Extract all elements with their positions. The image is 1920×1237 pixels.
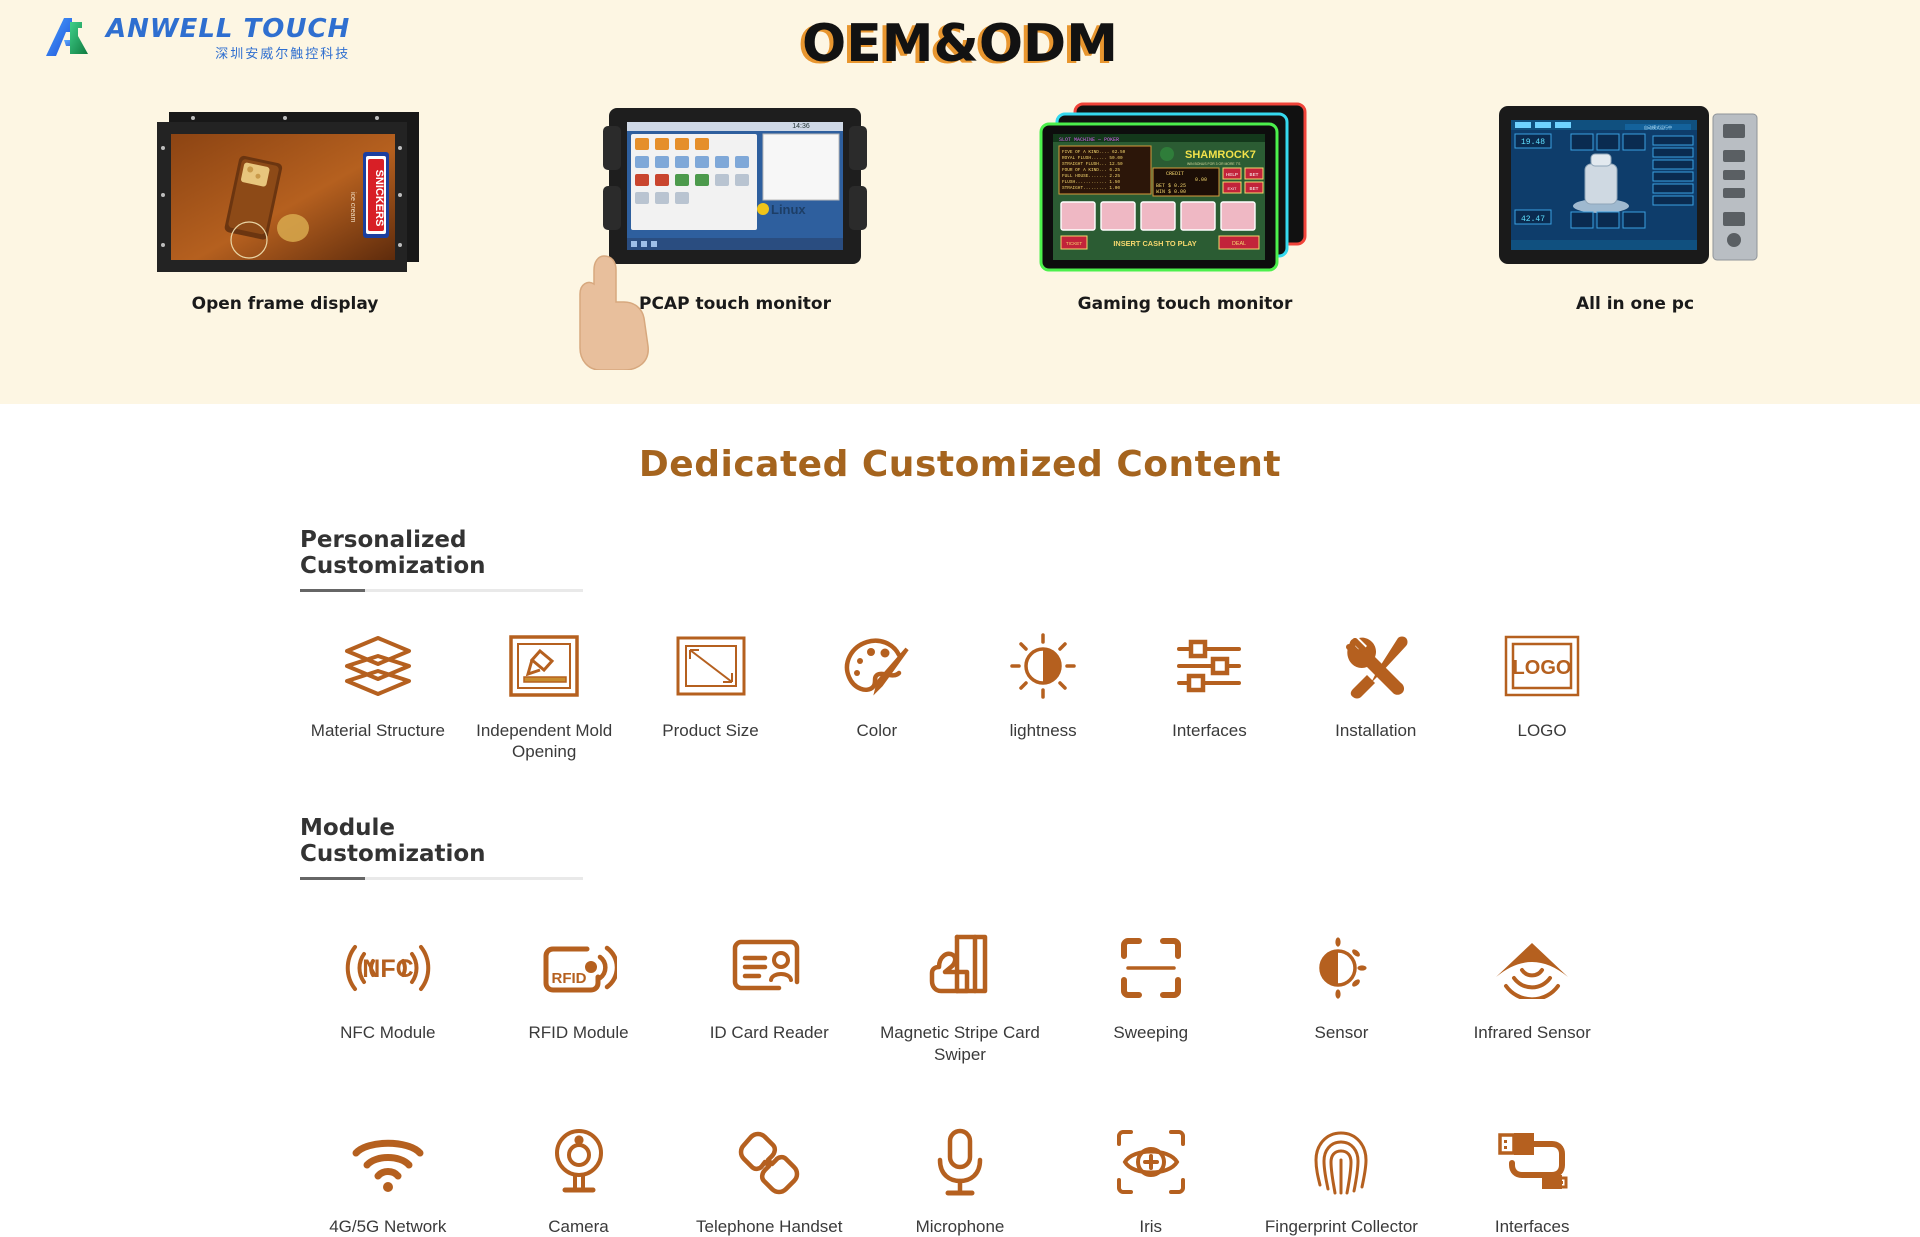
svg-text:42.47: 42.47 [1521,215,1545,224]
feature-logo[interactable]: LOGO LOGO [1464,628,1620,763]
module-interfaces[interactable]: Interfaces [1444,1124,1620,1237]
feature-installation[interactable]: Installation [1298,628,1454,763]
palette-icon [841,628,913,704]
product-label: All in one pc [1470,294,1800,314]
section-personalized-customization: Personalized Customization Material Stru… [0,527,1920,763]
section-header: Module Customization [300,815,583,880]
product-card-pcap[interactable]: 14:36 Linux PCAP touch monitor [570,100,900,314]
open-frame-display-image: SNICKERS ice cream [145,100,425,280]
module-rfid[interactable]: RFID RFID Module [491,930,667,1066]
module-id-card-reader[interactable]: ID Card Reader [681,930,857,1066]
feature-label: ID Card Reader [710,1022,829,1043]
section-heading: Module Customization [300,815,583,867]
wifi-icon [348,1124,428,1200]
svg-text:TICKET: TICKET [1066,241,1083,246]
feature-label: Camera [548,1216,608,1237]
module-infrared-sensor[interactable]: Infrared Sensor [1444,930,1620,1066]
svg-text:DEAL: DEAL [1232,241,1246,247]
section-heading: Personalized Customization [300,527,583,579]
brightness-sun-icon [1009,628,1077,704]
feature-label: Independent Mold Opening [466,720,622,763]
svg-text:SNICKERS: SNICKERS [373,170,385,227]
svg-text:BET: BET [1250,186,1259,191]
svg-text:WIN BONUS FOR 3 OR MORE 7'S: WIN BONUS FOR 3 OR MORE 7'S [1187,162,1241,166]
svg-text:SHAMROCK7: SHAMROCK7 [1185,149,1256,161]
feature-color[interactable]: Color [799,628,955,763]
module-fingerprint-collector[interactable]: Fingerprint Collector [1254,1124,1430,1237]
usb-cable-icon [1494,1124,1570,1200]
module-4g-5g-network[interactable]: 4G/5G Network [300,1124,476,1237]
module-icon-grid-row1: NFC NFC Module RFID [300,930,1620,1066]
rfid-icon: RFID [541,930,617,1006]
feature-label: Material Structure [311,720,445,741]
mold-pencil-icon [508,628,580,704]
module-magnetic-stripe-card-swiper[interactable]: Magnetic Stripe Card Swiper [872,930,1048,1066]
screen-diagonal-icon [675,628,747,704]
feature-label: Telephone Handset [696,1216,843,1237]
feature-label: Interfaces [1172,720,1247,741]
rfid-inner-text: RFID [551,970,586,987]
svg-text:STRAIGHT FLUSH... 12.50: STRAIGHT FLUSH... 12.50 [1062,162,1123,167]
svg-text:ROYAL FLUSH...... 50.00: ROYAL FLUSH...... 50.00 [1062,156,1123,161]
page-title: OEM&ODM [0,14,1920,74]
feature-product-size[interactable]: Product Size [633,628,789,763]
main-section-title: Dedicated Customized Content [0,444,1920,485]
feature-material-structure[interactable]: Material Structure [300,628,456,763]
infrared-sensor-icon [1490,930,1574,1006]
feature-label: Installation [1335,720,1416,741]
svg-text:FULL HOUSE....... 2.25: FULL HOUSE....... 2.25 [1062,174,1120,179]
webcam-icon [547,1124,611,1200]
feature-label: Sensor [1315,1022,1369,1043]
feature-label: Color [857,720,898,741]
svg-text:WIN $ 0.00: WIN $ 0.00 [1156,189,1186,195]
feature-label: lightness [1010,720,1077,741]
top-banner: ANWELL TOUCH 深圳安威尔触控科技 OEM&ODM [0,0,1920,404]
svg-text:INSERT CASH TO PLAY: INSERT CASH TO PLAY [1113,239,1196,248]
scan-frame-icon [1119,930,1183,1006]
personalized-icon-grid: Material Structure Independent Mold Open… [300,628,1620,763]
nfc-icon: NFC [333,930,443,1006]
svg-text:BET: BET [1250,172,1259,177]
svg-text:0.00: 0.00 [1195,177,1207,183]
svg-text:FLUSH............ 1.50: FLUSH............ 1.50 [1062,180,1120,185]
product-gallery: SNICKERS ice cream Open frame display [0,100,1920,314]
product-card-aio[interactable]: 自动模式运行中 19.48 42.47 [1470,100,1800,314]
wrench-screwdriver-icon [1341,628,1411,704]
feature-label: Infrared Sensor [1474,1022,1591,1043]
svg-text:19.48: 19.48 [1521,138,1545,147]
feature-interfaces[interactable]: Interfaces [1132,628,1288,763]
layers-icon [341,628,415,704]
module-nfc[interactable]: NFC NFC Module [300,930,476,1066]
svg-text:FOUR OF A KIND... 6.25: FOUR OF A KIND... 6.25 [1062,168,1120,173]
light-sensor-icon [1308,930,1374,1006]
svg-text:ice cream: ice cream [349,192,356,223]
feature-label: Product Size [662,720,758,741]
svg-text:自动模式运行中: 自动模式运行中 [1644,124,1672,130]
nfc-inner-text: NFC [362,955,413,983]
module-camera[interactable]: Camera [491,1124,667,1237]
product-label: Open frame display [120,294,450,314]
card-swipe-icon [927,930,993,1006]
logo-inner-text: LOGO [1513,657,1572,679]
feature-label: Iris [1139,1216,1162,1237]
feature-label: Interfaces [1495,1216,1570,1237]
iris-scan-icon [1115,1124,1187,1200]
pointing-hand-icon [560,250,680,370]
id-card-icon [731,930,807,1006]
gaming-touch-monitor-image: SLOT MACHINE — POKER FIVE OF A KIND.... … [1035,100,1335,280]
module-telephone-handset[interactable]: Telephone Handset [681,1124,857,1237]
svg-text:CREDIT: CREDIT [1166,171,1184,177]
feature-lightness[interactable]: lightness [965,628,1121,763]
svg-text:STRAIGHT......... 1.00: STRAIGHT......... 1.00 [1062,186,1120,191]
svg-text:14:36: 14:36 [792,123,810,130]
product-card-open-frame[interactable]: SNICKERS ice cream Open frame display [120,100,450,314]
feature-independent-mold-opening[interactable]: Independent Mold Opening [466,628,622,763]
module-iris[interactable]: Iris [1063,1124,1239,1237]
section-underline [300,877,583,880]
module-sweeping[interactable]: Sweeping [1063,930,1239,1066]
svg-text:Linux: Linux [771,202,806,217]
feature-label: Fingerprint Collector [1265,1216,1418,1237]
module-sensor[interactable]: Sensor [1254,930,1430,1066]
feature-label: RFID Module [528,1022,628,1043]
svg-text:SLOT MACHINE — POKER: SLOT MACHINE — POKER [1059,137,1119,143]
all-in-one-pc-image: 自动模式运行中 19.48 42.47 [1485,100,1785,280]
sliders-icon [1175,628,1243,704]
module-microphone[interactable]: Microphone [872,1124,1048,1237]
feature-label: 4G/5G Network [329,1216,446,1237]
product-label: Gaming touch monitor [1020,294,1350,314]
section-module-customization: Module Customization [0,815,1920,1237]
section-header: Personalized Customization [300,527,583,592]
fingerprint-icon [1308,1124,1374,1200]
feature-label: NFC Module [340,1022,435,1043]
product-card-gaming[interactable]: SLOT MACHINE — POKER FIVE OF A KIND.... … [1020,100,1350,314]
feature-label: Magnetic Stripe Card Swiper [872,1022,1048,1066]
svg-text:FIVE OF A KIND.... 62.50: FIVE OF A KIND.... 62.50 [1062,150,1126,155]
logo-frame-icon: LOGO [1504,628,1580,704]
feature-label: LOGO [1518,720,1567,741]
svg-text:EXIT: EXIT [1228,186,1237,191]
module-icon-grid-row2: 4G/5G Network Camera [300,1124,1620,1237]
microphone-icon [932,1124,988,1200]
feature-label: Sweeping [1113,1022,1188,1043]
main-content: Dedicated Customized Content Personalize… [0,404,1920,1237]
feature-label: Microphone [916,1216,1005,1237]
svg-text:HELP: HELP [1226,172,1238,177]
telephone-handset-icon [736,1124,802,1200]
section-underline [300,589,583,592]
